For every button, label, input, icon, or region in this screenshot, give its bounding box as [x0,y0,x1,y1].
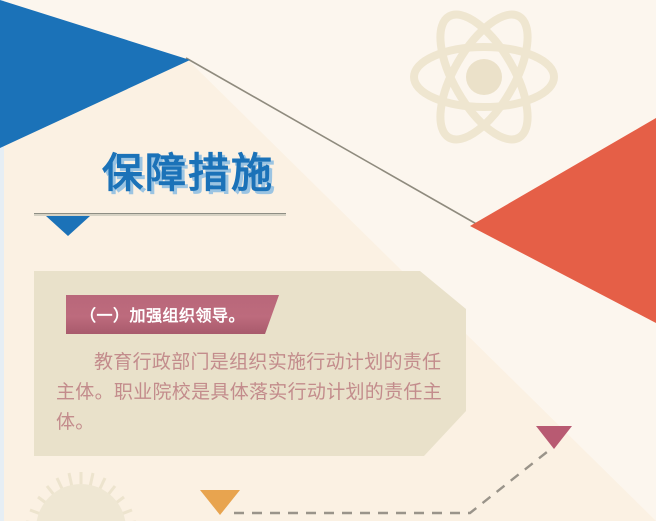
sunburst-icon [22,470,140,521]
triangle-down-orange-icon [200,490,240,515]
atom-icon [404,2,564,152]
card-body-paragraph: 教育行政部门是组织实施行动计划的责任主体。职业院校是具体落实行动计划的责任主体。 [56,348,448,438]
section-heading-ribbon: （一）加强组织领导。 [66,295,279,334]
slide-canvas: 保障措施 （一）加强组织领导。 教育行政部门是组织实施行动计划的责任主体。职业院… [0,0,656,521]
section-heading-label: （一）加强组织领导。 [66,295,279,334]
page-title: 保障措施 [102,152,364,195]
page-title-block: 保障措施 [34,152,364,195]
triangle-down-blue-icon [46,216,90,236]
triangle-down-rose-icon [536,426,572,449]
